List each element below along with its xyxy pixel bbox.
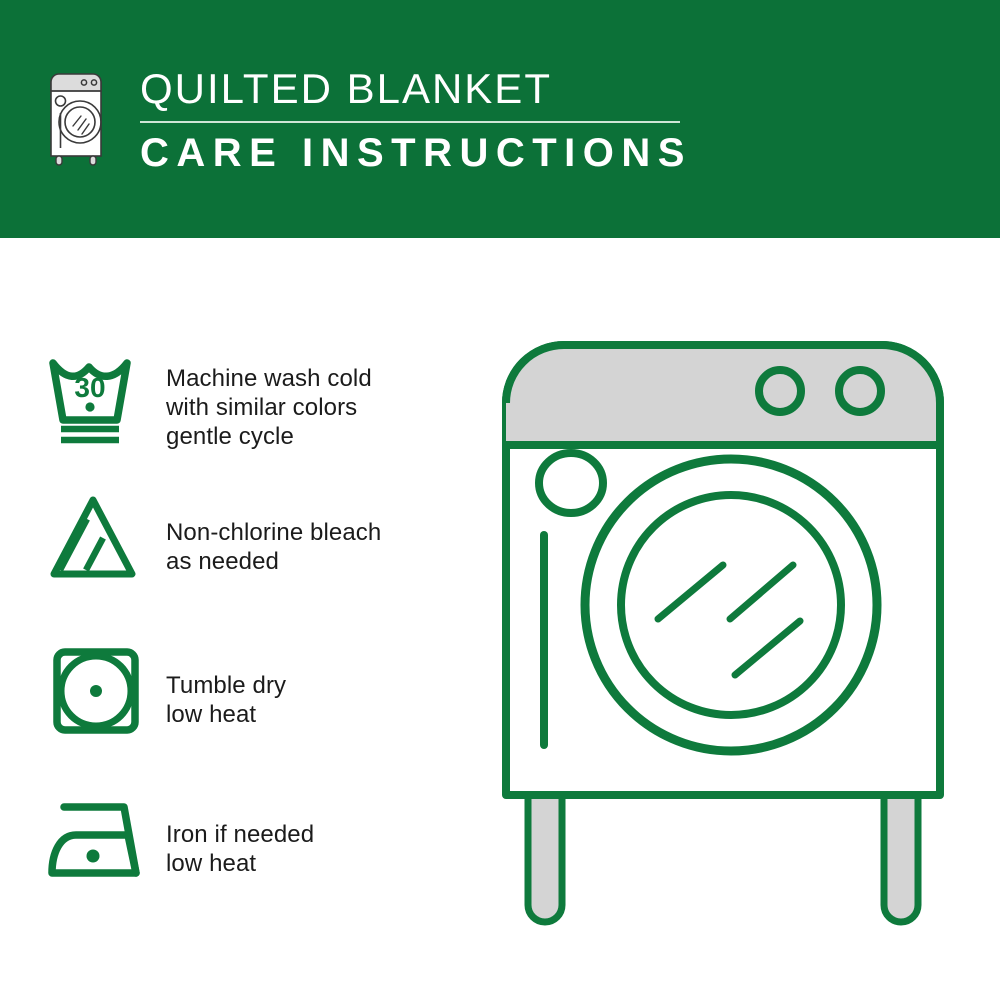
care-label-line: gentle cycle — [166, 422, 372, 451]
header-banner: QUILTED BLANKET CARE INSTRUCTIONS — [0, 0, 1000, 238]
care-label-line: with similar colors — [166, 393, 372, 422]
care-icon-wrapper: 30 — [46, 350, 166, 446]
iron-icon — [46, 795, 146, 891]
title-divider — [140, 121, 680, 123]
page-title-secondary: CARE INSTRUCTIONS — [140, 131, 692, 175]
care-label-iron: Iron if needed low heat — [166, 795, 314, 878]
care-item-machine-wash: 30 Machine wash cold with similar colors… — [46, 350, 476, 451]
care-label-line: Non-chlorine bleach — [166, 518, 381, 547]
care-label-bleach: Non-chlorine bleach as needed — [166, 490, 381, 576]
care-item-iron: Iron if needed low heat — [46, 795, 476, 891]
front-load-washing-machine-illustration — [488, 325, 978, 945]
care-icon-wrapper — [46, 645, 166, 741]
iron-heat-dot — [87, 850, 100, 863]
care-item-tumble-dry: Tumble dry low heat — [46, 645, 476, 741]
wash-dot — [85, 402, 94, 411]
leg-right — [884, 780, 918, 922]
leg-left — [528, 780, 562, 922]
header-content: QUILTED BLANKET CARE INSTRUCTIONS — [44, 62, 692, 175]
bleach-triangle-icon — [46, 490, 146, 586]
title-block: QUILTED BLANKET CARE INSTRUCTIONS — [140, 62, 692, 175]
care-label-line: low heat — [166, 700, 286, 729]
care-item-bleach: Non-chlorine bleach as needed — [46, 490, 476, 586]
care-label-tumble-dry: Tumble dry low heat — [166, 645, 286, 729]
page-title-primary: QUILTED BLANKET — [140, 66, 692, 112]
care-label-line: Machine wash cold — [166, 364, 372, 393]
wash-temperature-label: 30 — [74, 372, 105, 403]
care-label-line: as needed — [166, 547, 381, 576]
care-label-line: Tumble dry — [166, 671, 286, 700]
care-instructions-page: QUILTED BLANKET CARE INSTRUCTIONS 30 — [0, 0, 1000, 1000]
dry-heat-dot — [90, 685, 102, 697]
care-label-machine-wash: Machine wash cold with similar colors ge… — [166, 350, 372, 451]
care-label-line: low heat — [166, 849, 314, 878]
control-panel — [506, 345, 940, 445]
wash-tub-icon: 30 — [46, 350, 146, 446]
care-icon-wrapper — [46, 795, 166, 891]
care-label-line: Iron if needed — [166, 820, 314, 849]
tumble-dry-icon — [46, 645, 146, 741]
washing-machine-icon — [44, 62, 116, 170]
care-icon-wrapper — [46, 490, 166, 586]
